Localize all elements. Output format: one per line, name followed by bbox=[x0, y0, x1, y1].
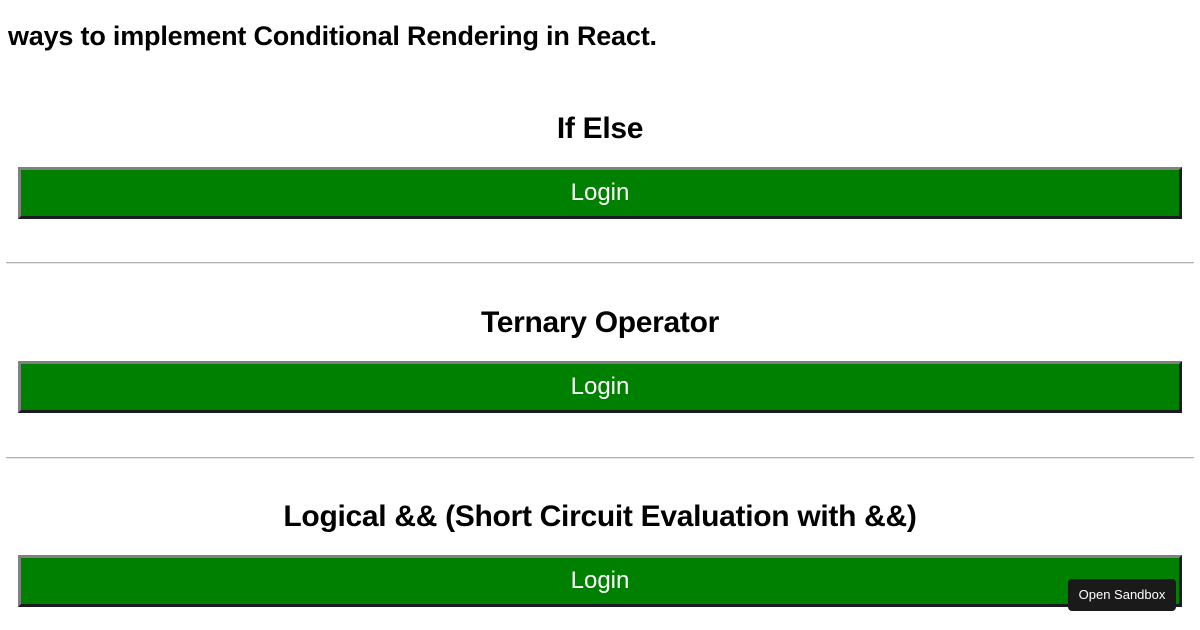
section-if-else: If Else Login bbox=[0, 112, 1200, 219]
page-root: ways to implement Conditional Rendering … bbox=[0, 0, 1200, 630]
section-heading-logical-and: Logical && (Short Circuit Evaluation wit… bbox=[0, 500, 1200, 534]
section-divider-2 bbox=[6, 457, 1194, 459]
login-button-logical-and[interactable]: Login bbox=[18, 555, 1182, 607]
section-heading-ternary-operator: Ternary Operator bbox=[0, 306, 1200, 340]
section-divider-1 bbox=[6, 262, 1194, 264]
section-heading-if-else: If Else bbox=[0, 112, 1200, 146]
section-logical-and: Logical && (Short Circuit Evaluation wit… bbox=[0, 500, 1200, 607]
login-button-ternary-operator[interactable]: Login bbox=[18, 361, 1182, 413]
page-title: ways to implement Conditional Rendering … bbox=[8, 21, 657, 52]
login-button-if-else[interactable]: Login bbox=[18, 167, 1182, 219]
section-ternary-operator: Ternary Operator Login bbox=[0, 306, 1200, 413]
open-sandbox-button[interactable]: Open Sandbox bbox=[1068, 579, 1176, 611]
